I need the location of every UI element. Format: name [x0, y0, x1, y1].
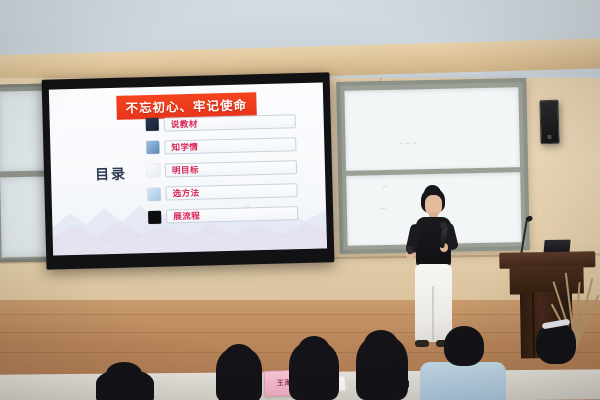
list-item[interactable]: 说教材	[146, 111, 296, 134]
list-item	[420, 326, 506, 400]
list-item	[212, 344, 270, 400]
list-item[interactable]: 明目标	[147, 158, 297, 181]
classroom-photo: ⌁ ⌁ ⌁ ⌐ ⌐ 不忘初心、牢记使命 目录 说教材	[0, 0, 600, 400]
slide-section-label: 目录	[95, 164, 128, 185]
list-item-label: 知学情	[171, 140, 198, 153]
slide-content: 不忘初心、牢记使命 目录 说教材 知学情	[49, 82, 327, 255]
list-item	[352, 330, 416, 400]
microphone-head-icon	[440, 222, 447, 229]
slide-toc-list: 说教材 知学情 明目标	[146, 111, 299, 231]
toc-pill[interactable]: 选方法	[165, 183, 297, 200]
lightbulb-icon	[147, 187, 160, 200]
book-icon	[146, 118, 159, 131]
presentation-screen: 不忘初心、牢记使命 目录 说教材 知学情	[42, 72, 335, 269]
target-icon	[147, 164, 160, 177]
wall-speaker-icon	[539, 100, 559, 144]
list-item[interactable]: 知学情	[146, 134, 296, 157]
student-icon	[146, 141, 159, 154]
toc-pill[interactable]: 明目标	[165, 160, 297, 177]
toc-pill[interactable]: 说教材	[164, 114, 296, 131]
list-item[interactable]: 选方法	[147, 181, 297, 204]
list-item-label: 展流程	[173, 210, 200, 223]
list-item	[96, 362, 166, 400]
list-item-label: 明目标	[172, 164, 199, 177]
list-item	[286, 336, 346, 400]
toc-pill[interactable]: 展流程	[166, 206, 298, 223]
list-item-label: 说教材	[171, 117, 198, 130]
list-item-label: 选方法	[172, 187, 199, 200]
flow-icon	[148, 210, 161, 223]
list-item	[520, 320, 600, 400]
list-item[interactable]: 展流程	[148, 204, 298, 227]
toc-pill[interactable]: 知学情	[164, 137, 296, 154]
